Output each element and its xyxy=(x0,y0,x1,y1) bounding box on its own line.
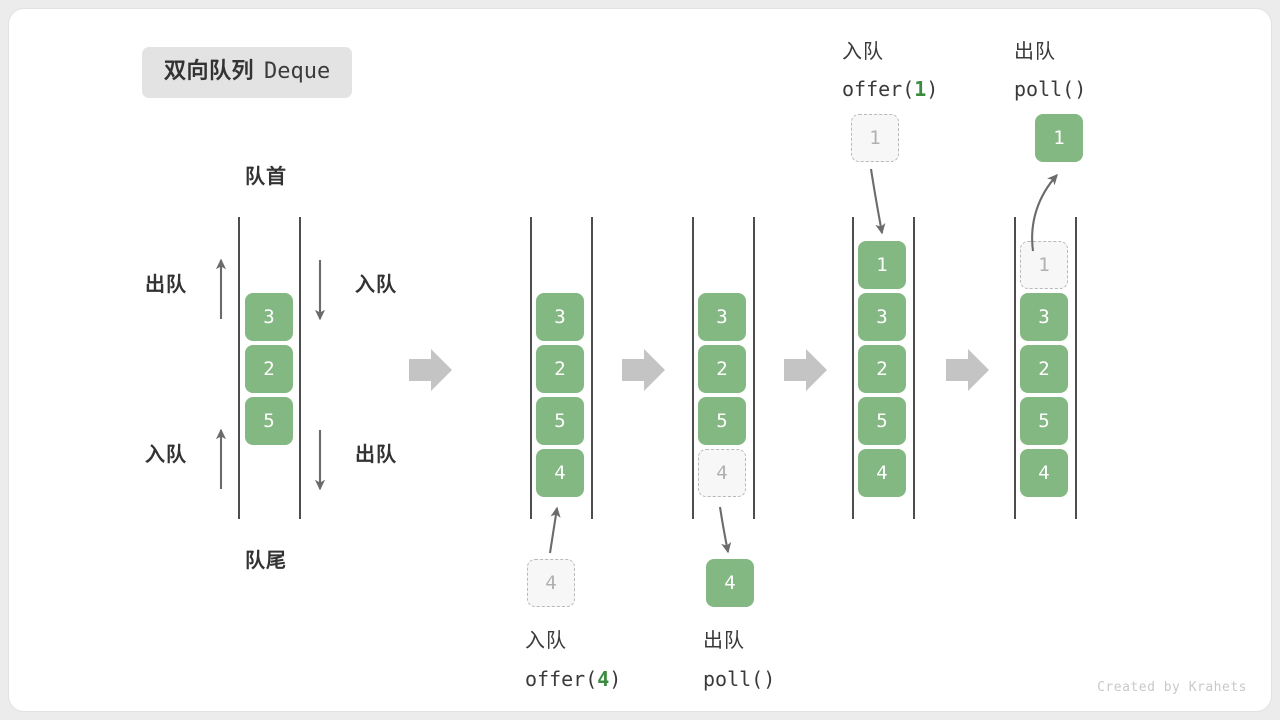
panel5-op-label-fn: poll() xyxy=(1014,79,1086,99)
panel2-rail-right xyxy=(591,217,593,519)
panel3-op-label-cn: 出队 xyxy=(703,631,745,651)
panel5-cell: 3 xyxy=(1020,293,1068,341)
panel2-op-fn-suffix: ) xyxy=(609,667,621,691)
panel5-rail-right xyxy=(1075,217,1077,519)
panel3-op-label-fn: poll() xyxy=(703,669,775,689)
panel5-remove-arrow-icon xyxy=(1032,175,1057,251)
panel1-cell: 5 xyxy=(245,397,293,445)
panel3-result-cell: 4 xyxy=(706,559,754,607)
panel1-label-dequeue-top: 出队 xyxy=(145,275,187,295)
panel4-rail-left xyxy=(852,217,854,519)
step-arrow-1-icon xyxy=(409,349,452,391)
panel2-cell: 3 xyxy=(536,293,584,341)
panel2-insert-arrow-icon xyxy=(550,508,557,553)
panel3-op-fn-prefix: poll( xyxy=(703,667,763,691)
panel3-ghost-cell: 4 xyxy=(698,449,746,497)
panel3-cell: 3 xyxy=(698,293,746,341)
diagram-title-badge: 双向队列Deque xyxy=(142,47,352,98)
panel4-op-label-fn: offer(1) xyxy=(842,79,938,99)
panel3-cell: 5 xyxy=(698,397,746,445)
panel5-ghost-cell: 1 xyxy=(1020,241,1068,289)
panel1-tail-label: 队尾 xyxy=(245,551,287,571)
panel1-label-enqueue-top: 入队 xyxy=(355,275,397,295)
panel5-cell: 5 xyxy=(1020,397,1068,445)
panel1-cell: 3 xyxy=(245,293,293,341)
arrow-overlay xyxy=(9,9,1272,712)
panel3-op-fn-suffix: ) xyxy=(763,667,775,691)
panel4-op-fn-arg: 1 xyxy=(914,77,926,101)
panel5-cell: 2 xyxy=(1020,345,1068,393)
panel1-label-dequeue-bottom: 出队 xyxy=(355,445,397,465)
panel4-cell: 1 xyxy=(858,241,906,289)
panel3-rail-right xyxy=(753,217,755,519)
diagram-stage: 双向队列Deque 队首 队尾 出队 入队 入队 出队 3 2 5 3 2 5 … xyxy=(9,9,1272,712)
panel4-op-label-cn: 入队 xyxy=(842,42,884,62)
panel2-op-fn-arg: 4 xyxy=(597,667,609,691)
panel4-cell: 3 xyxy=(858,293,906,341)
credit-text: Created by Krahets xyxy=(1097,680,1247,695)
diagram-card: 双向队列Deque 队首 队尾 出队 入队 入队 出队 3 2 5 3 2 5 … xyxy=(8,8,1272,712)
panel2-op-label-fn: offer(4) xyxy=(525,669,621,689)
panel5-op-label-cn: 出队 xyxy=(1014,42,1056,62)
panel5-op-fn-suffix: ) xyxy=(1074,77,1086,101)
panel3-remove-arrow-icon xyxy=(720,507,728,552)
panel4-rail-right xyxy=(913,217,915,519)
panel1-front-label: 队首 xyxy=(245,167,287,187)
panel2-op-fn-prefix: offer( xyxy=(525,667,597,691)
panel2-cell: 2 xyxy=(536,345,584,393)
panel1-label-enqueue-bottom: 入队 xyxy=(145,445,187,465)
step-arrow-4-icon xyxy=(946,349,989,391)
panel4-op-fn-prefix: offer( xyxy=(842,77,914,101)
panel1-rail-left xyxy=(238,217,240,519)
panel3-rail-left xyxy=(692,217,694,519)
panel4-cell: 4 xyxy=(858,449,906,497)
panel5-rail-left xyxy=(1014,217,1016,519)
panel4-cell: 2 xyxy=(858,345,906,393)
diagram-title-cn: 双向队列 xyxy=(164,58,254,83)
panel4-cell: 5 xyxy=(858,397,906,445)
panel4-ghost-cell: 1 xyxy=(851,114,899,162)
panel3-cell: 2 xyxy=(698,345,746,393)
panel1-cell: 2 xyxy=(245,345,293,393)
step-arrow-2-icon xyxy=(622,349,665,391)
panel2-cell: 5 xyxy=(536,397,584,445)
diagram-title-en: Deque xyxy=(264,59,330,84)
panel5-op-fn-prefix: poll( xyxy=(1014,77,1074,101)
panel2-rail-left xyxy=(530,217,532,519)
panel5-cell: 4 xyxy=(1020,449,1068,497)
panel5-result-cell: 1 xyxy=(1035,114,1083,162)
step-arrow-3-icon xyxy=(784,349,827,391)
panel1-rail-right xyxy=(299,217,301,519)
panel4-insert-arrow-icon xyxy=(871,169,882,233)
panel2-cell: 4 xyxy=(536,449,584,497)
panel2-op-label-cn: 入队 xyxy=(525,631,567,651)
panel2-ghost-cell: 4 xyxy=(527,559,575,607)
panel4-op-fn-suffix: ) xyxy=(926,77,938,101)
